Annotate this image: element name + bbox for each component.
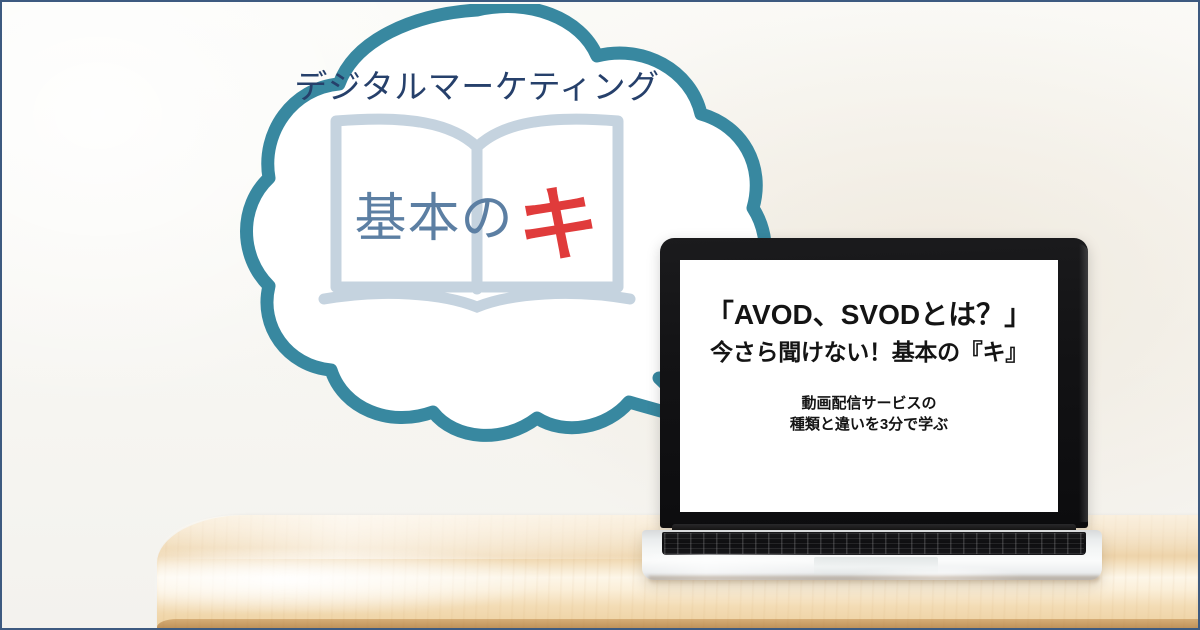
screen-title: 「AVOD、SVODとは？」 bbox=[706, 298, 1032, 331]
laptop-keyboard[interactable] bbox=[662, 532, 1086, 555]
laptop-screen[interactable]: 「AVOD、SVODとは？」 今さら聞けない！基本の『キ』 動画配信サービスの … bbox=[680, 260, 1058, 512]
cloud-heading-text: デジタルマーケティング bbox=[177, 60, 777, 108]
desk-front-shadow bbox=[157, 619, 1200, 630]
laptop-computer: 「AVOD、SVODとは？」 今さら聞けない！基本の『キ』 動画配信サービスの … bbox=[642, 238, 1102, 578]
desk-edge-highlight bbox=[157, 550, 657, 612]
screen-caption: 動画配信サービスの 種類と違いを3分で学ぶ bbox=[790, 393, 948, 436]
laptop-base-shadow bbox=[648, 576, 1100, 585]
screen-caption-line-1: 動画配信サービスの bbox=[790, 393, 948, 414]
screen-content: 「AVOD、SVODとは？」 今さら聞けない！基本の『キ』 動画配信サービスの … bbox=[680, 260, 1058, 512]
book-label-accent: キ bbox=[518, 180, 600, 271]
thumbnail-canvas: デジタルマーケティング 基本のキ 「AVOD、SVODとは？」 今さら聞けない！… bbox=[0, 0, 1200, 630]
book-label: 基本のキ bbox=[302, 154, 652, 273]
screen-subtitle: 今さら聞けない！基本の『キ』 bbox=[710, 339, 1028, 367]
laptop-trackpad[interactable] bbox=[814, 557, 938, 575]
book-label-primary: 基本の bbox=[354, 190, 513, 248]
screen-caption-line-2: 種類と違いを3分で学ぶ bbox=[790, 414, 948, 435]
